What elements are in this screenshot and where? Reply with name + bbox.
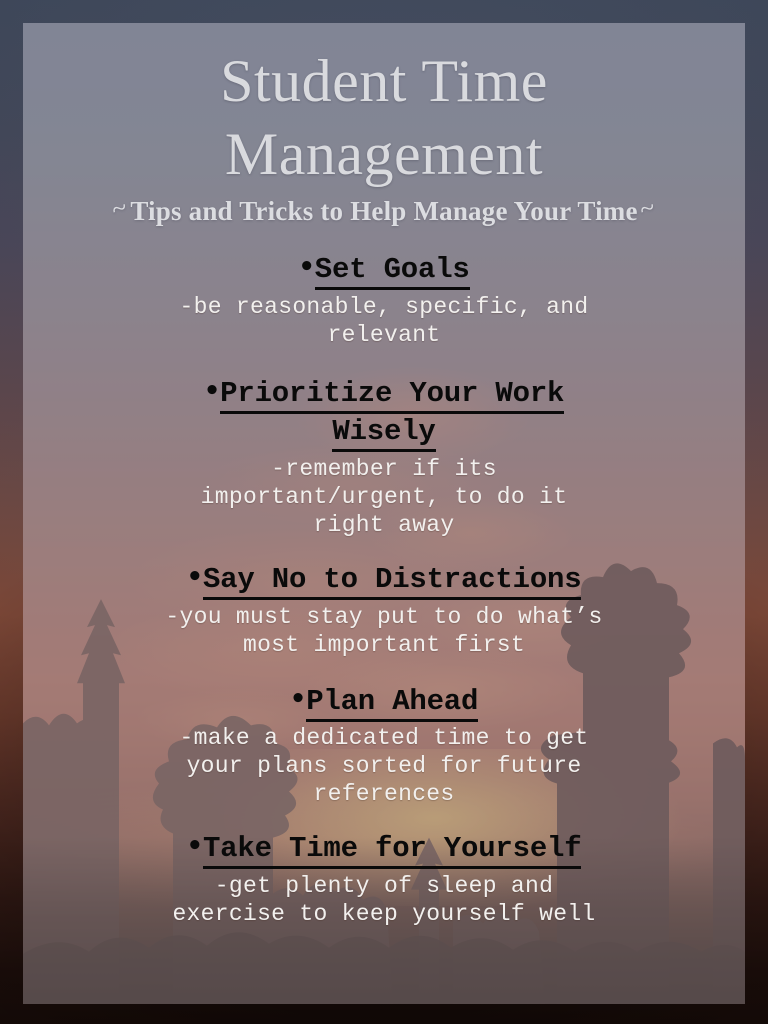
page-subtitle: ~Tips and Tricks to Help Manage Your Tim… — [41, 197, 727, 227]
subtitle-text: Tips and Tricks to Help Manage Your Time — [130, 196, 637, 226]
tip-heading: •Take Time for Yourself — [154, 830, 614, 869]
tip-heading-text: Prioritize Your Work Wisely — [220, 377, 564, 453]
list-item: •Prioritize Your Work Wisely -remember i… — [41, 375, 727, 539]
tip-heading: •Prioritize Your Work Wisely — [174, 375, 594, 452]
poster-panel: Student Time Management ~Tips and Tricks… — [23, 23, 745, 1004]
list-item: •Plan Ahead -make a dedicated time to ge… — [41, 683, 727, 809]
tip-heading: •Plan Ahead — [169, 683, 599, 722]
list-item: •Set Goals -be reasonable, specific, and… — [41, 251, 727, 349]
tip-heading: •Set Goals — [169, 251, 599, 290]
tip-heading-text: Take Time for Yourself — [203, 832, 581, 869]
tip-heading-text: Set Goals — [315, 253, 470, 290]
page-title: Student Time Management — [41, 23, 727, 191]
tip-body: -be reasonable, specific, and relevant — [169, 293, 599, 349]
tip-heading-text: Say No to Distractions — [203, 563, 581, 600]
tip-body: -remember if its important/urgent, to do… — [174, 455, 594, 539]
bullet-icon: • — [187, 831, 203, 861]
bullet-icon: • — [290, 684, 306, 714]
list-item: •Say No to Distractions -you must stay p… — [41, 561, 727, 659]
bullet-icon: • — [298, 252, 314, 282]
tip-heading: •Say No to Distractions — [157, 561, 612, 600]
title-line-2: Management — [225, 121, 543, 187]
title-line-1: Student Time — [220, 48, 548, 114]
poster: Student Time Management ~Tips and Tricks… — [0, 0, 768, 1024]
tip-body: -get plenty of sleep and exercise to kee… — [154, 872, 614, 928]
poster-content: Student Time Management ~Tips and Tricks… — [23, 23, 745, 1004]
bullet-icon: • — [187, 562, 203, 592]
tip-body: -you must stay put to do what’s most imp… — [157, 603, 612, 659]
list-item: •Take Time for Yourself -get plenty of s… — [41, 830, 727, 928]
tip-body: -make a dedicated time to get your plans… — [169, 724, 599, 808]
bullet-icon: • — [204, 376, 220, 406]
tip-heading-text: Plan Ahead — [306, 685, 478, 722]
tips-list: •Set Goals -be reasonable, specific, and… — [41, 251, 727, 928]
